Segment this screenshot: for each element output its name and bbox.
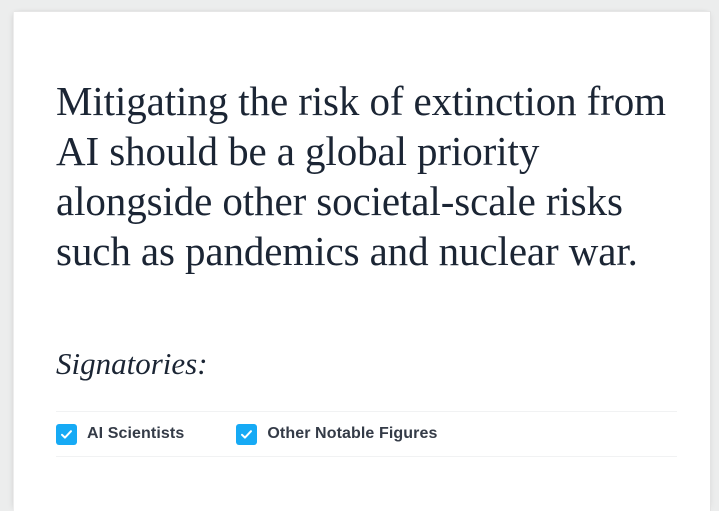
statement-text: Mitigating the risk of extinction from A… xyxy=(56,12,681,276)
filter-other-notable-figures[interactable]: Other Notable Figures xyxy=(236,424,437,445)
check-icon xyxy=(240,428,253,441)
check-icon xyxy=(60,428,73,441)
checkbox-other-notable-figures[interactable] xyxy=(236,424,257,445)
filter-label-ai-scientists: AI Scientists xyxy=(87,425,184,443)
signatories-heading: Signatories: xyxy=(56,276,674,382)
divider-below-filters xyxy=(56,456,677,457)
filter-label-other-notable-figures: Other Notable Figures xyxy=(267,425,437,443)
checkbox-ai-scientists[interactable] xyxy=(56,424,77,445)
filter-ai-scientists[interactable]: AI Scientists xyxy=(56,424,184,445)
signatory-filter-row: AI Scientists Other Notable Figures xyxy=(56,412,677,456)
statement-card: Mitigating the risk of extinction from A… xyxy=(13,11,711,511)
content-column: Mitigating the risk of extinction from A… xyxy=(56,12,674,457)
